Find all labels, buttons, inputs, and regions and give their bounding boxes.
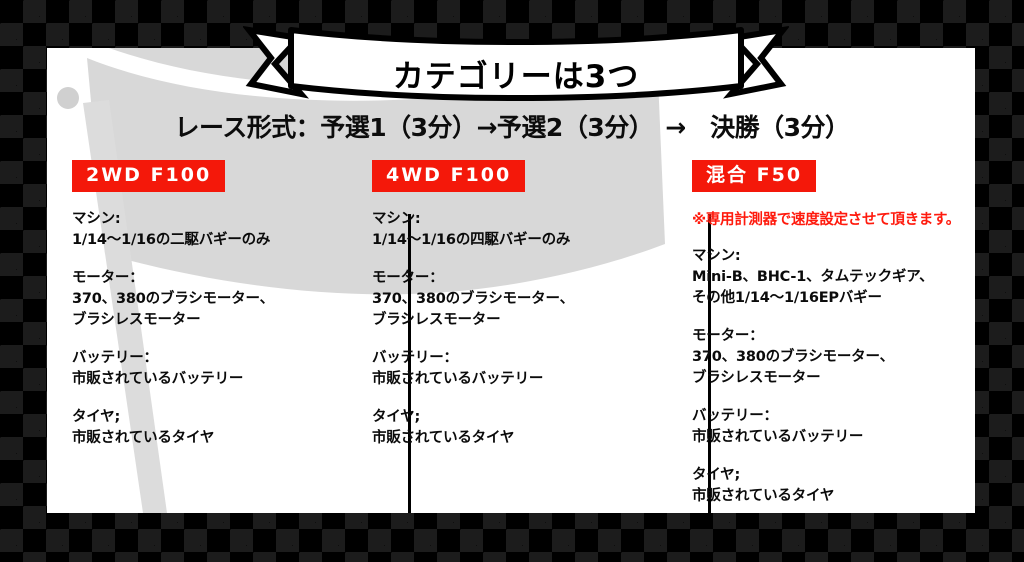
spec-block: タイヤ;市販されているタイヤ: [72, 407, 362, 449]
spec-label: マシン:: [372, 209, 652, 230]
spec-value-line: その他1/14〜1/16EPバギー: [692, 288, 984, 309]
ribbon-banner: カテゴリーは3つ: [243, 24, 789, 110]
spec-value-line: 市販されているバッテリー: [72, 369, 362, 390]
spec-value-line: ブラシレスモーター: [372, 310, 652, 331]
spec-label: バッテリー：: [692, 406, 984, 427]
spec-value-line: 370、380のブラシモーター、: [692, 347, 984, 368]
spec-value-line: ブラシレスモーター: [692, 368, 984, 389]
spec-label: タイヤ;: [372, 407, 652, 428]
spec-block: バッテリー：市販されているバッテリー: [72, 348, 362, 390]
spec-block: モーター：370、380のブラシモーター、ブラシレスモーター: [372, 268, 652, 331]
spec-label: タイヤ;: [72, 407, 362, 428]
spec-value-line: 市販されているタイヤ: [372, 428, 652, 449]
category-column-2wd: 2WD F100マシン:1/14〜1/16の二駆バギーのみモーター：370、38…: [72, 160, 362, 449]
spec-block: バッテリー：市販されているバッテリー: [692, 406, 984, 448]
spec-label: モーター：: [692, 326, 984, 347]
spec-value-line: Mini-B、BHC-1、タムテックギア、: [692, 267, 984, 288]
race-format-subtitle: レース形式：予選1（3分）→予選2（3分） → 決勝（3分）: [0, 108, 1024, 144]
spec-label: タイヤ;: [692, 465, 984, 486]
spec-label: モーター：: [372, 268, 652, 289]
spec-label: バッテリー：: [372, 348, 652, 369]
category-column-4wd: 4WD F100マシン:1/14〜1/16の四駆バギーのみモーター：370、38…: [372, 160, 652, 449]
spec-value-line: 370、380のブラシモーター、: [372, 289, 652, 310]
spec-value-line: 市販されているタイヤ: [692, 486, 984, 507]
category-column-mixed: 混合 F50※専用計測器で速度設定させて頂きます。マシン:Mini-B、BHC-…: [692, 160, 984, 507]
category-warning-note: ※専用計測器で速度設定させて頂きます。: [692, 208, 984, 229]
spec-value-line: 市販されているタイヤ: [72, 428, 362, 449]
spec-value-line: 市販されているバッテリー: [692, 427, 984, 448]
spec-value-line: 370、380のブラシモーター、: [72, 289, 362, 310]
spec-block: バッテリー：市販されているバッテリー: [372, 348, 652, 390]
spec-block: タイヤ;市販されているタイヤ: [692, 465, 984, 507]
spec-label: マシン:: [692, 246, 984, 267]
category-badge: 2WD F100: [72, 160, 225, 192]
spec-value-line: 1/14〜1/16の二駆バギーのみ: [72, 230, 362, 251]
spec-block: モーター：370、380のブラシモーター、ブラシレスモーター: [692, 326, 984, 389]
spec-label: マシン:: [72, 209, 362, 230]
spec-block: マシン:1/14〜1/16の四駆バギーのみ: [372, 209, 652, 251]
spec-value-line: ブラシレスモーター: [72, 310, 362, 331]
spec-block: マシン:Mini-B、BHC-1、タムテックギア、その他1/14〜1/16EPバ…: [692, 246, 984, 309]
spec-block: マシン:1/14〜1/16の二駆バギーのみ: [72, 209, 362, 251]
banner-title: カテゴリーは3つ: [243, 30, 789, 116]
spec-label: バッテリー：: [72, 348, 362, 369]
spec-value-line: 市販されているバッテリー: [372, 369, 652, 390]
category-badge: 4WD F100: [372, 160, 525, 192]
spec-block: タイヤ;市販されているタイヤ: [372, 407, 652, 449]
spec-block: モーター：370、380のブラシモーター、ブラシレスモーター: [72, 268, 362, 331]
spec-value-line: 1/14〜1/16の四駆バギーのみ: [372, 230, 652, 251]
spec-label: モーター：: [72, 268, 362, 289]
slide-root: カテゴリーは3つ レース形式：予選1（3分）→予選2（3分） → 決勝（3分） …: [0, 0, 1024, 562]
category-badge: 混合 F50: [692, 160, 816, 192]
